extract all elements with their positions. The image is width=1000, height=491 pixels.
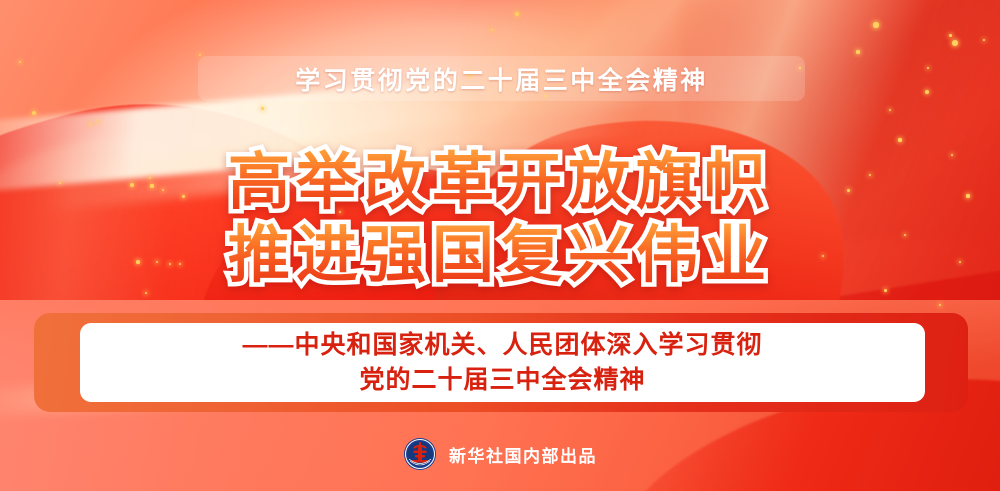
- headline-line-1: 高举改革开放旗帜 高举改革开放旗帜: [0, 146, 1000, 219]
- footer-credit-text: 新华社国内部出品: [449, 442, 597, 467]
- sparkle-dot: [898, 138, 901, 141]
- sparkle-dot: [261, 107, 264, 110]
- subtitle-line-2: 党的二十届三中全会精神: [359, 364, 645, 397]
- sparkle-dot: [856, 50, 859, 53]
- headline: 高举改革开放旗帜 高举改革开放旗帜 推进强国复兴伟业 推进强国复兴伟业: [0, 146, 1000, 292]
- headline-line-2-text: 推进强国复兴伟业: [228, 221, 772, 290]
- subtitle-line-1: ——中央和国家机关、人民团体深入学习贯彻: [242, 329, 762, 362]
- xinhua-agency-logo-icon: [403, 437, 437, 471]
- subtitle-box: ——中央和国家机关、人民团体深入学习贯彻 党的二十届三中全会精神: [80, 323, 925, 402]
- sparkle-dot: [925, 90, 929, 94]
- sparkle-dot: [873, 22, 878, 27]
- sparkle-dot: [949, 34, 952, 37]
- headline-line-2: 推进强国复兴伟业 推进强国复兴伟业: [0, 219, 1000, 292]
- sparkle-dot: [952, 40, 958, 46]
- top-banner: 学习贯彻党的二十届三中全会精神: [198, 56, 805, 101]
- footer: 新华社国内部出品: [0, 437, 1000, 471]
- headline-line-1-text: 高举改革开放旗帜: [228, 148, 772, 217]
- top-banner-text: 学习贯彻党的二十届三中全会精神: [295, 61, 708, 97]
- poster-canvas: 学习贯彻党的二十届三中全会精神 高举改革开放旗帜 高举改革开放旗帜 推进强国复兴…: [0, 0, 1000, 491]
